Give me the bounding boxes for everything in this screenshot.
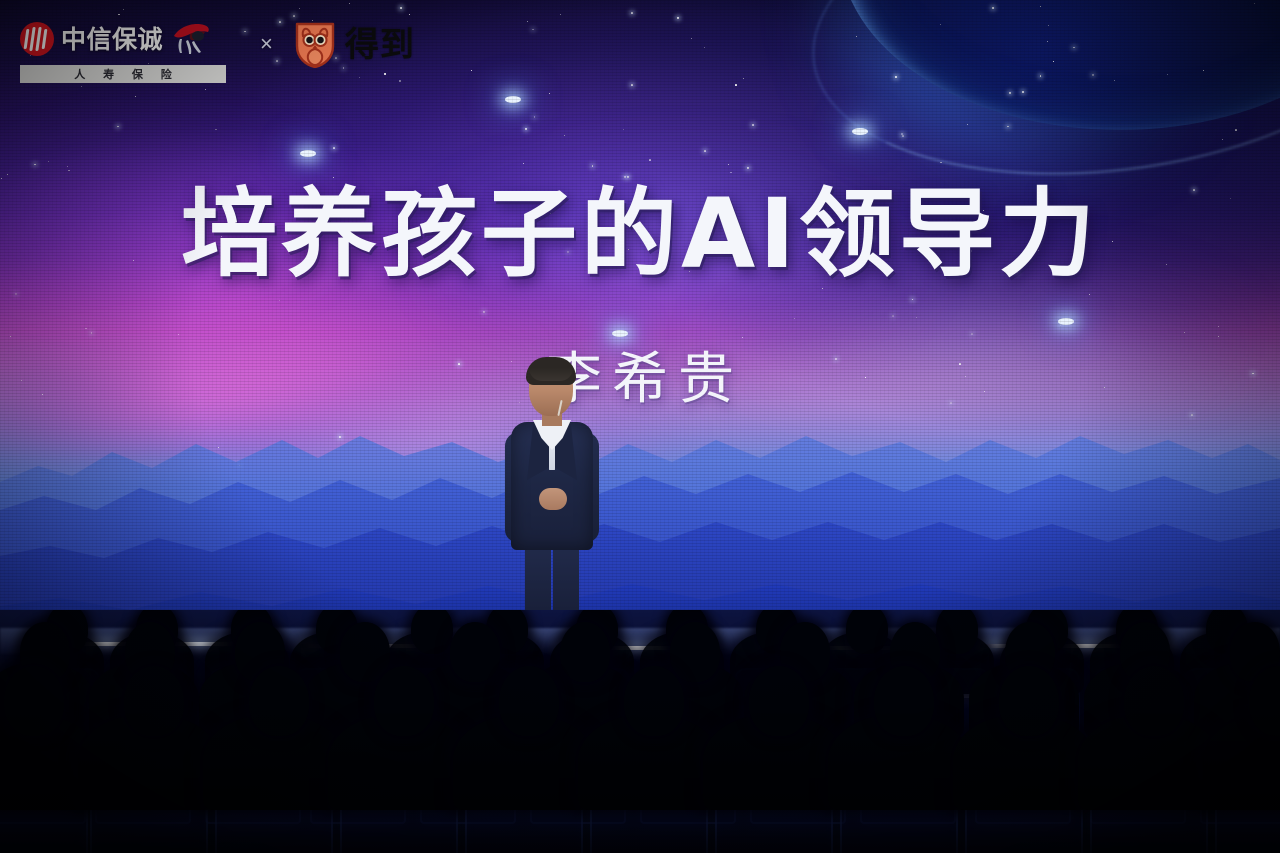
star-icon xyxy=(1235,129,1237,131)
star-icon xyxy=(205,89,206,90)
star-icon xyxy=(1022,91,1024,93)
screen-speaker-name: 李希贵 xyxy=(0,352,1280,408)
citic-sub-line: 人 寿 保 险 xyxy=(67,66,179,82)
bright-star-flare-icon xyxy=(505,96,521,103)
star-icon xyxy=(1203,70,1204,71)
star-icon xyxy=(123,9,124,10)
star-icon xyxy=(349,3,350,4)
star-icon xyxy=(117,126,119,128)
audience-head-silhouette xyxy=(1124,666,1184,736)
star-icon xyxy=(1114,80,1115,81)
star-icon xyxy=(1218,326,1219,327)
star-icon xyxy=(564,135,565,136)
stage-edge xyxy=(0,628,1280,654)
stage-led-screen xyxy=(0,0,1280,660)
dedao-brand-name: 得到 xyxy=(345,28,415,62)
star-icon xyxy=(704,47,705,48)
star-icon xyxy=(631,84,633,86)
star-icon xyxy=(532,29,534,31)
audience-head-silhouette xyxy=(874,666,934,736)
star-icon xyxy=(730,172,732,174)
star-icon xyxy=(178,334,179,335)
star-icon xyxy=(7,174,9,176)
citic-prudential-logo: 中信保诚 人 寿 保 险 xyxy=(20,18,238,83)
star-icon xyxy=(902,135,904,137)
star-icon xyxy=(677,17,679,19)
star-icon xyxy=(1040,6,1041,7)
star-icon xyxy=(1040,75,1042,77)
star-icon xyxy=(794,318,795,319)
star-icon xyxy=(691,38,692,39)
citic-brand-name: 中信保诚 xyxy=(61,27,163,52)
audience-head-silhouette xyxy=(411,610,453,654)
prudential-figure-icon xyxy=(170,22,212,56)
audience-head-silhouette xyxy=(670,622,720,682)
logo-x-separator: × xyxy=(260,31,273,57)
star-icon xyxy=(483,311,485,313)
star-icon xyxy=(912,299,914,301)
star-icon xyxy=(967,124,968,125)
star-icon xyxy=(1073,47,1075,49)
star-icon xyxy=(1,178,2,179)
star-icon xyxy=(409,14,410,15)
star-icon xyxy=(1053,61,1054,62)
bright-star-flare-icon xyxy=(852,128,868,135)
star-icon xyxy=(68,170,69,171)
keynote-stage-scene: 中信保诚 人 寿 保 险 × xyxy=(0,0,1280,853)
star-icon xyxy=(293,15,295,17)
star-icon xyxy=(1007,126,1009,128)
star-icon xyxy=(649,159,651,161)
star-icon xyxy=(400,7,402,9)
star-icon xyxy=(895,76,897,78)
star-icon xyxy=(471,70,472,71)
star-icon xyxy=(1218,336,1219,337)
star-icon xyxy=(34,164,36,166)
star-icon xyxy=(279,300,280,301)
star-icon xyxy=(527,21,528,22)
star-icon xyxy=(15,293,17,295)
audience-head-silhouette xyxy=(846,610,888,654)
star-icon xyxy=(940,24,941,25)
star-icon xyxy=(534,116,536,118)
stage-floor-and-audience xyxy=(0,610,1280,853)
star-icon xyxy=(523,163,524,164)
citic-life-insurance-bar: 人 寿 保 险 xyxy=(20,65,226,83)
star-icon xyxy=(1222,139,1223,140)
audience-head-silhouette xyxy=(374,666,434,736)
star-icon xyxy=(1184,332,1185,333)
star-icon xyxy=(299,8,300,9)
star-icon xyxy=(592,165,594,167)
audience-head-silhouette xyxy=(560,622,610,682)
bright-star-flare-icon xyxy=(1058,318,1074,325)
audience-head-silhouette xyxy=(4,666,64,736)
star-icon xyxy=(333,147,335,149)
dedao-logo: 得到 xyxy=(295,22,415,68)
dedao-owl-shield-icon xyxy=(295,22,335,68)
star-icon xyxy=(1089,294,1090,295)
star-icon xyxy=(118,14,119,15)
audience-head-silhouette xyxy=(749,666,809,736)
bright-star-flare-icon xyxy=(300,150,316,157)
star-icon xyxy=(735,84,736,85)
star-icon xyxy=(623,129,624,130)
audience-head-silhouette xyxy=(936,610,978,654)
star-icon xyxy=(704,150,706,152)
sponsor-logo-bar: 中信保诚 人 寿 保 险 × xyxy=(20,18,415,83)
audience-head-silhouette xyxy=(499,666,559,736)
star-icon xyxy=(10,336,11,337)
audience-head-silhouette xyxy=(450,622,500,682)
star-icon xyxy=(992,7,994,9)
star-icon xyxy=(916,317,917,318)
star-icon xyxy=(743,78,744,79)
star-icon xyxy=(1048,25,1049,26)
star-icon xyxy=(215,129,217,131)
star-icon xyxy=(1092,74,1094,76)
star-icon xyxy=(560,14,561,15)
star-icon xyxy=(901,133,903,135)
star-icon xyxy=(971,333,973,335)
star-icon xyxy=(67,166,68,167)
star-icon xyxy=(1254,3,1255,4)
star-icon xyxy=(752,124,754,126)
star-icon xyxy=(1047,41,1048,42)
bright-star-flare-icon xyxy=(612,330,628,337)
speaker-person xyxy=(497,360,607,650)
audience-head-silhouette xyxy=(340,622,390,682)
star-icon xyxy=(81,86,82,87)
star-icon xyxy=(135,96,136,97)
star-icon xyxy=(48,161,49,162)
star-icon xyxy=(856,36,857,37)
audience-head-silhouette xyxy=(999,666,1059,736)
star-icon xyxy=(91,332,93,334)
star-icon xyxy=(1009,92,1011,94)
star-icon xyxy=(85,328,86,329)
star-icon xyxy=(742,337,743,338)
star-icon xyxy=(940,162,942,164)
star-icon xyxy=(892,315,894,317)
star-icon xyxy=(1167,74,1168,75)
audience-head-silhouette xyxy=(249,666,309,736)
star-icon xyxy=(525,128,527,130)
screen-headline: 培养孩子的AI领导力 xyxy=(0,186,1280,282)
star-icon xyxy=(549,93,550,94)
star-icon xyxy=(631,12,633,14)
audience-head-silhouette xyxy=(624,666,684,736)
star-icon xyxy=(728,164,729,165)
audience-head-silhouette xyxy=(124,666,184,736)
citic-circle-icon xyxy=(20,22,54,56)
star-icon xyxy=(747,167,749,169)
